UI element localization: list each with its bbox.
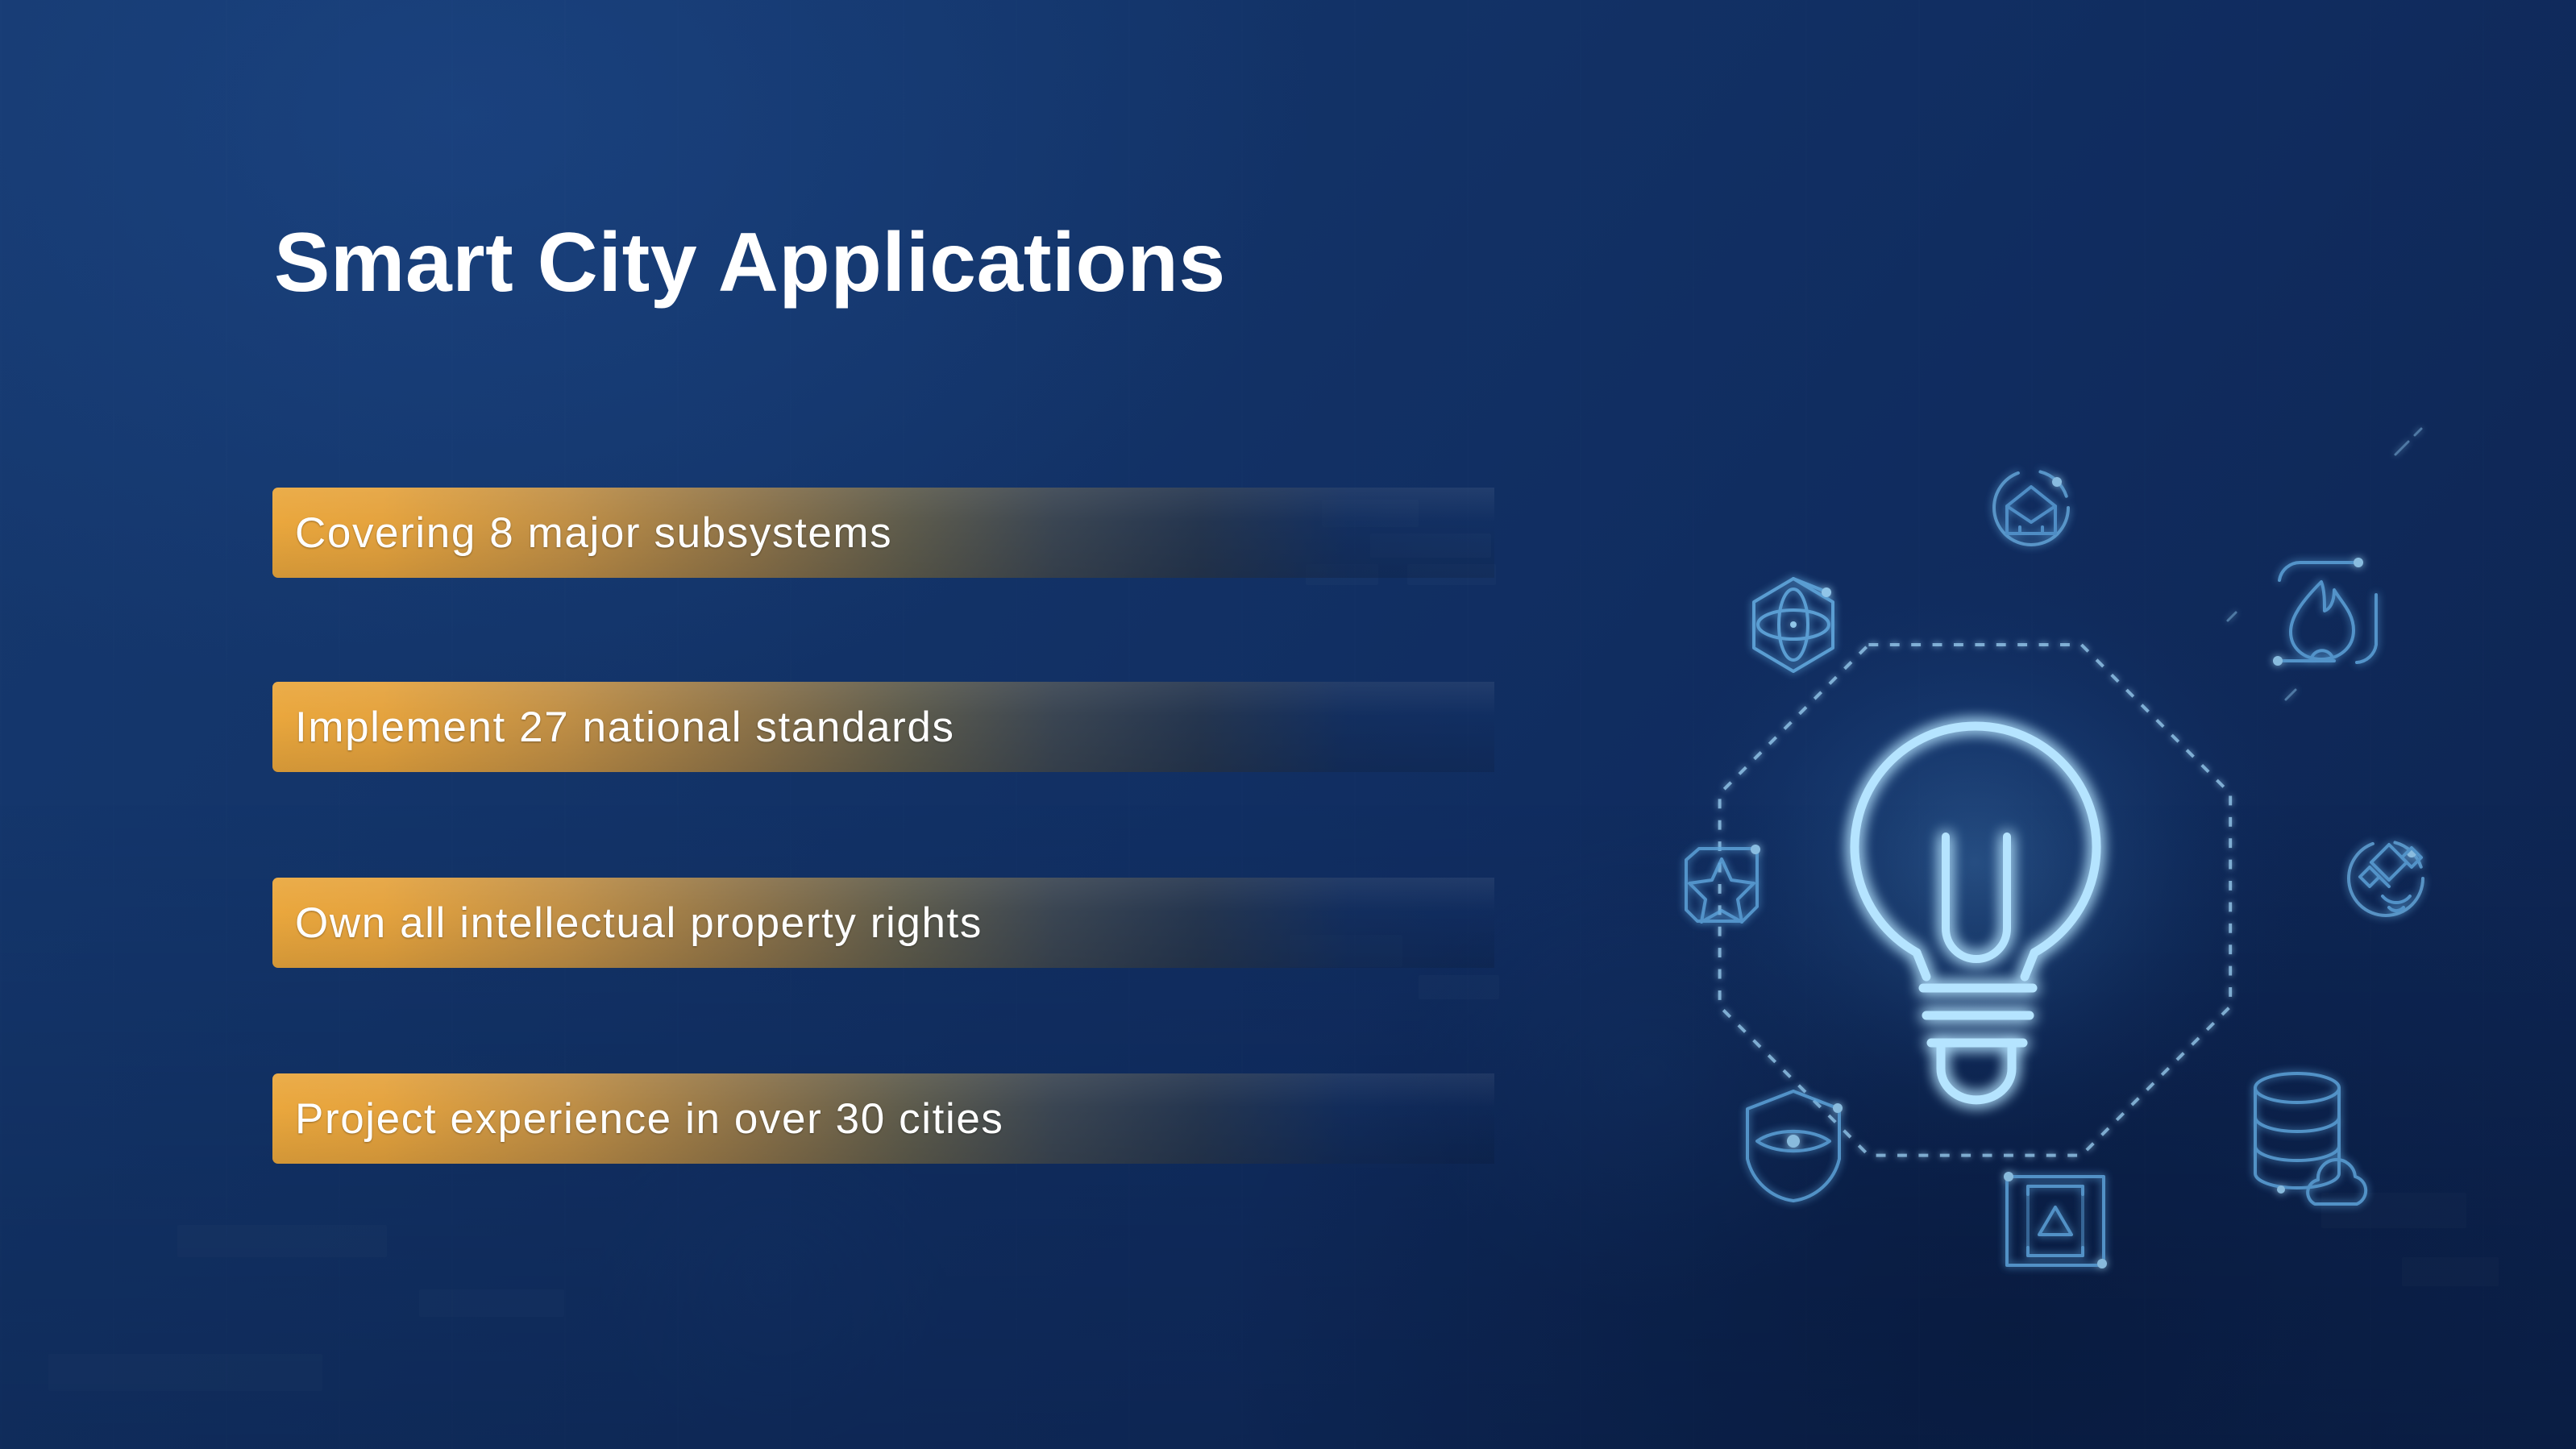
satellite-circle-icon: [2349, 841, 2423, 915]
graphic-svg: [1475, 379, 2474, 1297]
slide-canvas: Smart City Applications Covering 8 major…: [0, 0, 2576, 1449]
bullet-bar-1[interactable]: Covering 8 major subsystems: [272, 488, 1494, 578]
database-cloud-icon: [2255, 1073, 2366, 1204]
bullet-label-3: Own all intellectual property rights: [295, 899, 983, 948]
bullet-bar-3[interactable]: Own all intellectual property rights: [272, 878, 1494, 968]
bullet-label-1: Covering 8 major subsystems: [295, 509, 892, 558]
bullet-bar-2[interactable]: Implement 27 national standards: [272, 682, 1494, 772]
mail-circle-icon: [1994, 471, 2068, 545]
bullet-bar-4[interactable]: Project experience in over 30 cities: [272, 1073, 1494, 1164]
frame-triangle-icon: [2004, 1172, 2107, 1268]
flame-bracket-icon: [2273, 558, 2376, 666]
bullet-label-4: Project experience in over 30 cities: [295, 1094, 1004, 1144]
smart-city-graphic: [1475, 379, 2474, 1297]
page-title: Smart City Applications: [274, 216, 1226, 309]
bullet-label-2: Implement 27 national standards: [295, 703, 955, 752]
center-halo: [1628, 540, 2321, 1185]
